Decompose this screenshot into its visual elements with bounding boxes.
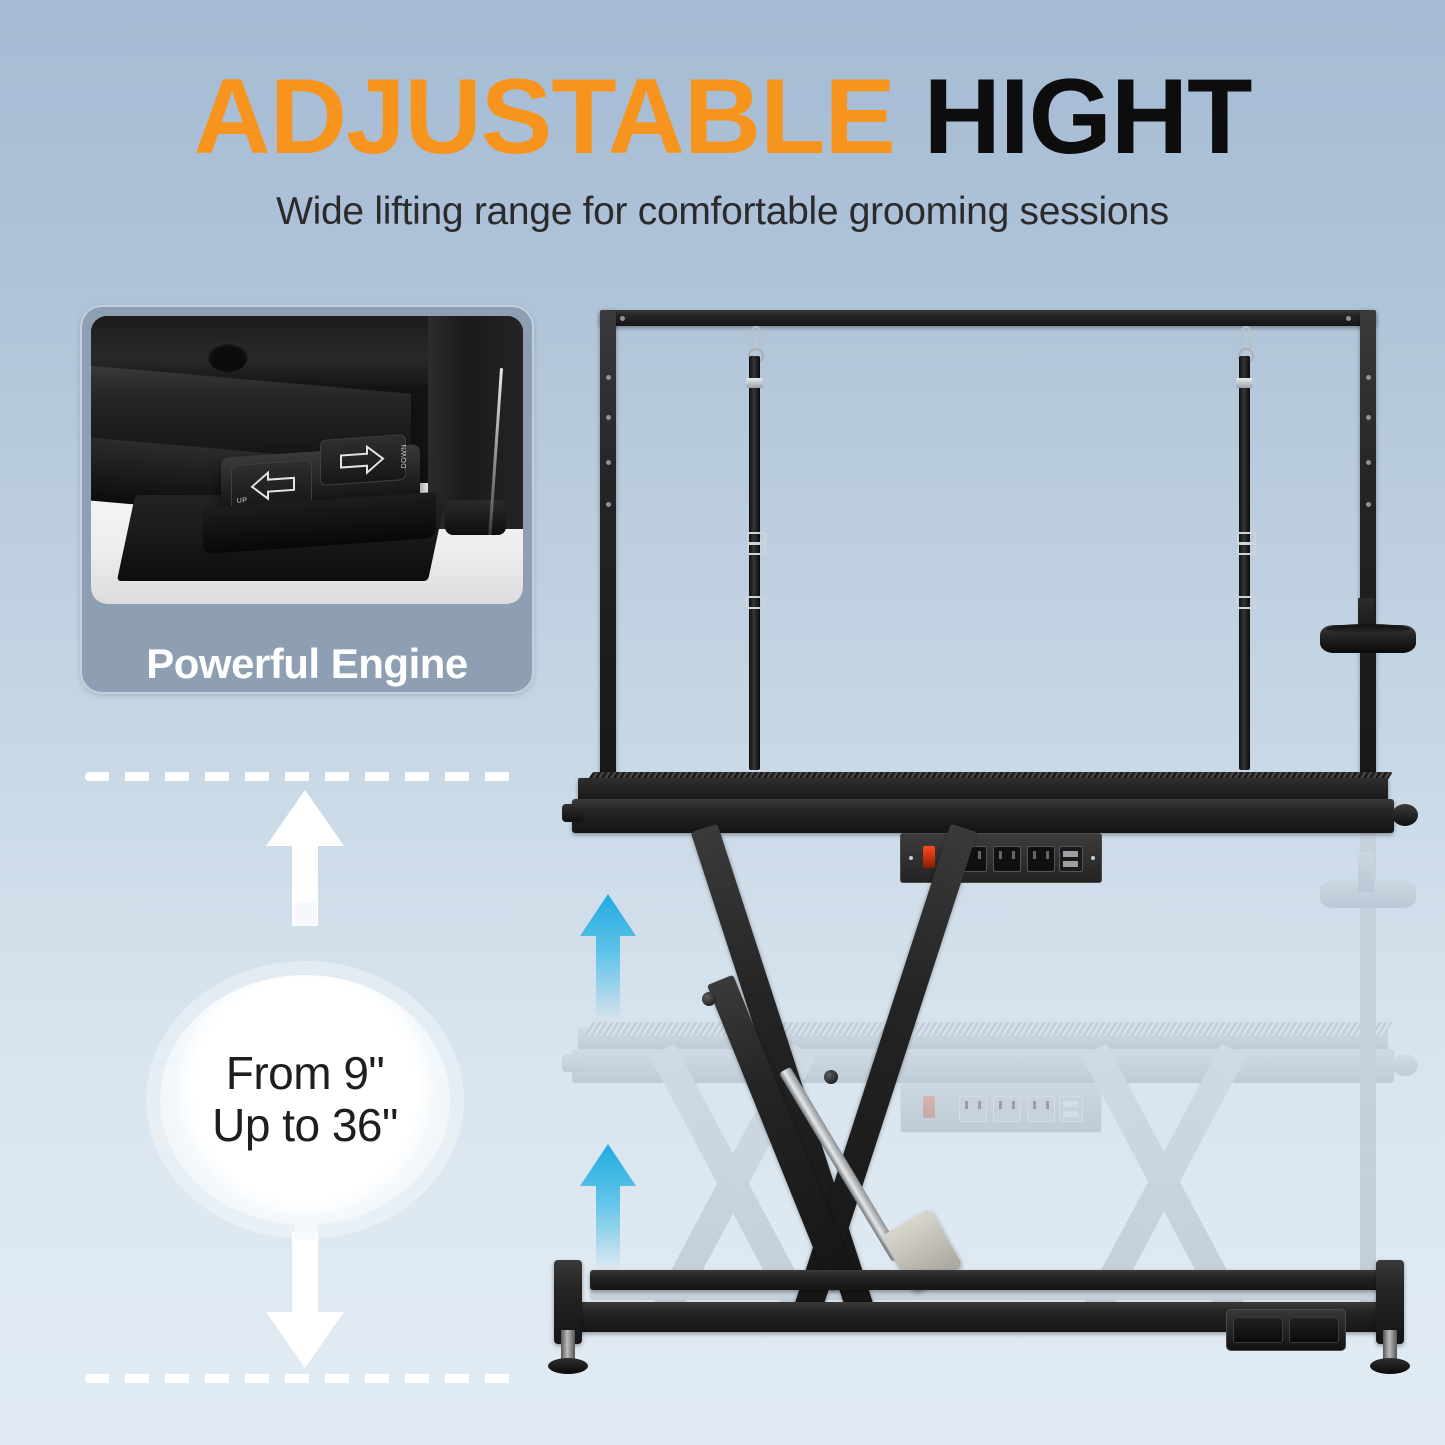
scissor-pivot xyxy=(824,1070,838,1084)
height-arrow-down-icon xyxy=(260,1230,350,1370)
post-clamp-knob[interactable] xyxy=(1392,804,1418,826)
leveling-foot-left-pad[interactable] xyxy=(548,1358,588,1374)
power-strip[interactable] xyxy=(900,833,1102,883)
usb-ports[interactable] xyxy=(1059,846,1083,872)
accessory-tray-lip xyxy=(1326,624,1410,634)
pedal-down-button[interactable]: DOWN xyxy=(320,434,405,486)
grooming-arm-crossbar xyxy=(600,310,1376,326)
height-tick-upper xyxy=(295,902,317,924)
page-title: ADJUSTABLE HIGHT xyxy=(0,60,1445,172)
foot-pedal-photo: UP DOWN xyxy=(91,316,523,604)
height-guide-line-top xyxy=(85,772,525,781)
page-subtitle: Wide lifting range for comfortable groom… xyxy=(0,190,1445,234)
tabletop-apron xyxy=(572,799,1394,833)
bolt-hole-icon xyxy=(208,342,248,372)
pedal-up-label: UP xyxy=(236,497,247,505)
height-guide-line-bottom xyxy=(85,1374,525,1383)
base-foot-pedal[interactable] xyxy=(1226,1309,1346,1351)
ac-outlet-2[interactable] xyxy=(993,846,1021,872)
height-range-min: From 9" xyxy=(226,1047,385,1099)
feature-card-label: Powerful Engine xyxy=(82,640,532,688)
strap-clip-right[interactable] xyxy=(1238,326,1250,360)
infographic-canvas: ADJUSTABLE HIGHT Wide lifting range for … xyxy=(0,0,1445,1445)
lift-arrow-upper-icon xyxy=(578,892,638,1022)
arrow-down-icon xyxy=(335,441,391,479)
height-range-max: Up to 36" xyxy=(212,1099,398,1151)
arrow-up-icon xyxy=(243,467,299,505)
headline-part-orange: ADJUSTABLE xyxy=(194,56,895,176)
grooming-arm-post-left xyxy=(600,310,616,825)
tabletop xyxy=(578,778,1388,800)
product-illustration xyxy=(520,280,1445,1445)
strap-clip-left[interactable] xyxy=(748,326,760,360)
base-upper-rail xyxy=(590,1270,1380,1290)
tabletop-end-cap-left xyxy=(562,804,584,822)
leveling-foot-right-pad[interactable] xyxy=(1370,1358,1410,1374)
ac-outlet-3[interactable] xyxy=(1027,846,1055,872)
height-range-badge: From 9" Up to 36" xyxy=(160,975,450,1225)
pedal-down-label: DOWN xyxy=(401,445,408,470)
lift-arrow-lower-icon xyxy=(578,1142,638,1272)
grooming-arm-post-right xyxy=(1360,310,1376,825)
power-switch[interactable] xyxy=(923,846,935,868)
headline-part-black: HIGHT xyxy=(924,56,1252,176)
feature-card-powerful-engine: UP DOWN Powerful Engine xyxy=(80,305,534,694)
